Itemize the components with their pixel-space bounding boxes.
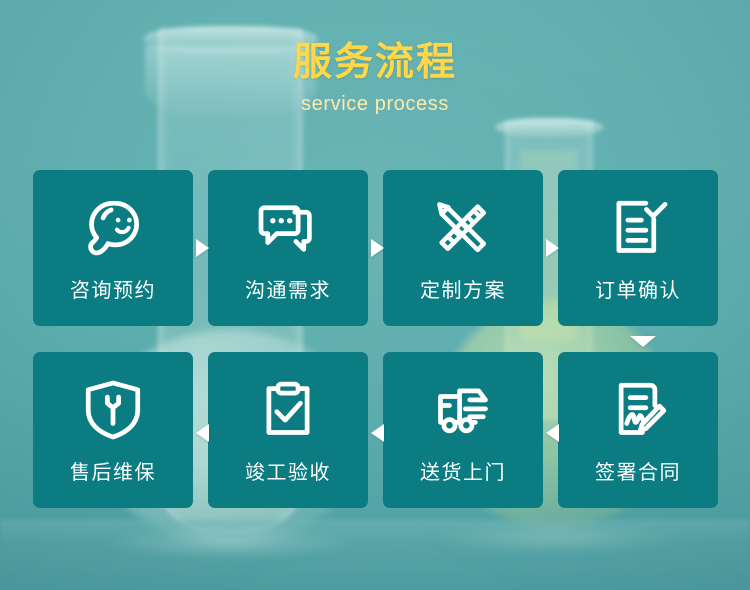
step-card-order-confirmation[interactable]: 订单确认 — [558, 170, 718, 326]
step-label: 咨询预约 — [70, 281, 156, 301]
chat-bubbles-icon — [252, 192, 324, 264]
arrow-step2-step3 — [371, 239, 384, 257]
step-label: 签署合同 — [595, 463, 681, 483]
step-card-communication[interactable]: 沟通需求 — [208, 170, 368, 326]
arrow-step6-step7 — [371, 424, 384, 442]
step-card-acceptance[interactable]: 竣工验收 — [208, 352, 368, 508]
step-card-after-sales[interactable]: 售后维保 — [33, 352, 193, 508]
contract-signature-icon — [602, 374, 674, 446]
page-subtitle: service process — [0, 93, 750, 115]
pencil-ruler-icon — [427, 192, 499, 264]
step-label: 送货上门 — [420, 463, 506, 483]
arrow-step4-step5 — [630, 336, 656, 347]
step-label: 沟通需求 — [245, 281, 331, 301]
step-label: 订单确认 — [595, 281, 681, 301]
arrow-step5-step6 — [546, 424, 559, 442]
service-process-banner: 服务流程 service process 咨询预约 — [0, 0, 750, 590]
arrow-step7-step8 — [196, 424, 209, 442]
step-label: 竣工验收 — [245, 463, 331, 483]
step-card-custom-plan[interactable]: 定制方案 — [383, 170, 543, 326]
banner-heading: 服务流程 service process — [0, 40, 750, 115]
page-title: 服务流程 — [0, 40, 750, 86]
clipboard-check-icon — [252, 374, 324, 446]
step-card-delivery[interactable]: 送货上门 — [383, 352, 543, 508]
step-card-contract[interactable]: 签署合同 — [558, 352, 718, 508]
document-check-icon — [602, 192, 674, 264]
step-label: 售后维保 — [70, 463, 156, 483]
process-step-grid: 咨询预约 沟通需求 — [33, 170, 719, 508]
delivery-truck-icon — [427, 374, 499, 446]
shield-wrench-icon — [77, 374, 149, 446]
arrow-step3-step4 — [546, 239, 559, 257]
step-card-consultation[interactable]: 咨询预约 — [33, 170, 193, 326]
step-label: 定制方案 — [420, 281, 506, 301]
arrow-step1-step2 — [196, 239, 209, 257]
phone-smiley-icon — [77, 192, 149, 264]
